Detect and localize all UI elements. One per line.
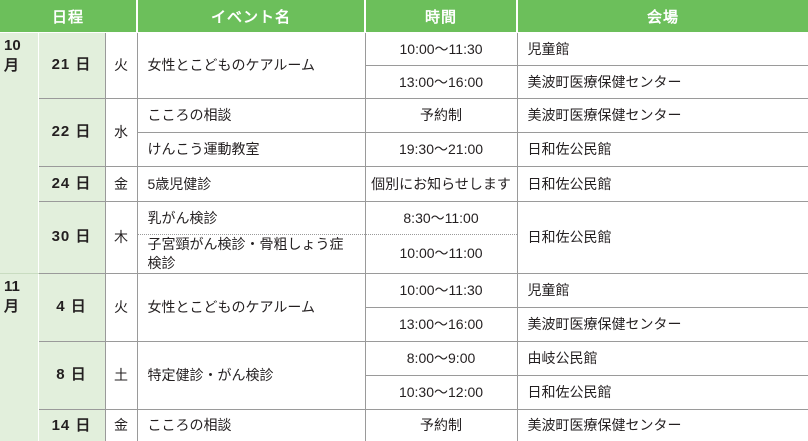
- day-number: 24 日: [38, 167, 105, 202]
- event-venue: 美波町医療保健センター: [517, 66, 808, 99]
- event-venue: 日和佐公民館: [517, 133, 808, 167]
- event-venue: 日和佐公民館: [517, 167, 808, 202]
- table-body: 10月 21 日 火 女性とこどものケアルーム 10:00〜11:30 児童館 …: [0, 33, 808, 441]
- day-of-week: 金: [105, 167, 137, 202]
- table-row: 10月 21 日 火 女性とこどものケアルーム 10:00〜11:30 児童館: [0, 33, 808, 66]
- month-label-october: 10月: [0, 33, 38, 274]
- event-name: けんこう運動教室: [137, 133, 365, 167]
- event-name: 女性とこどものケアルーム: [137, 33, 365, 99]
- column-header-venue: 会場: [517, 0, 808, 33]
- event-time: 10:00〜11:30: [365, 273, 517, 307]
- event-name: こころの相談: [137, 99, 365, 133]
- day-of-week: 水: [105, 99, 137, 167]
- day-number: 30 日: [38, 202, 105, 274]
- table-row: 8 日 土 特定健診・がん検診 8:00〜9:00 由岐公民館: [0, 341, 808, 375]
- event-schedule-table-container: 日程 イベント名 時間 会場 10月 21 日 火 女性とこどものケアルーム 1…: [0, 0, 808, 441]
- event-venue: 日和佐公民館: [517, 375, 808, 409]
- day-of-week: 土: [105, 341, 137, 409]
- column-header-date: 日程: [0, 0, 137, 33]
- event-venue: 日和佐公民館: [517, 202, 808, 274]
- month-label-november: 11月: [0, 273, 38, 441]
- event-time: 8:30〜11:00: [365, 202, 517, 235]
- event-time: 個別にお知らせします: [365, 167, 517, 202]
- table-header: 日程 イベント名 時間 会場: [0, 0, 808, 33]
- event-venue: 児童館: [517, 273, 808, 307]
- day-of-week: 火: [105, 273, 137, 341]
- event-time: 19:30〜21:00: [365, 133, 517, 167]
- event-name: 乳がん検診: [137, 202, 365, 235]
- day-number: 22 日: [38, 99, 105, 167]
- event-name: 特定健診・がん検診: [137, 341, 365, 409]
- day-of-week: 火: [105, 33, 137, 99]
- column-header-time: 時間: [365, 0, 517, 33]
- header-row: 日程 イベント名 時間 会場: [0, 0, 808, 33]
- event-schedule-table: 日程 イベント名 時間 会場 10月 21 日 火 女性とこどものケアルーム 1…: [0, 0, 808, 441]
- event-venue: 児童館: [517, 33, 808, 66]
- event-time: 10:00〜11:00: [365, 235, 517, 274]
- table-row: 30 日 木 乳がん検診 8:30〜11:00 日和佐公民館: [0, 202, 808, 235]
- day-number: 4 日: [38, 273, 105, 341]
- event-time: 予約制: [365, 409, 517, 441]
- event-time: 10:30〜12:00: [365, 375, 517, 409]
- column-header-event-name: イベント名: [137, 0, 365, 33]
- table-row: 14 日 金 こころの相談 予約制 美波町医療保健センター: [0, 409, 808, 441]
- event-time: 13:00〜16:00: [365, 66, 517, 99]
- event-time: 8:00〜9:00: [365, 341, 517, 375]
- event-venue: 由岐公民館: [517, 341, 808, 375]
- event-time: 13:00〜16:00: [365, 307, 517, 341]
- event-name: 女性とこどものケアルーム: [137, 273, 365, 341]
- day-number: 14 日: [38, 409, 105, 441]
- event-name: 子宮頸がん検診・骨粗しょう症検診: [137, 235, 365, 274]
- table-row: 22 日 水 こころの相談 予約制 美波町医療保健センター: [0, 99, 808, 133]
- day-number: 21 日: [38, 33, 105, 99]
- day-of-week: 金: [105, 409, 137, 441]
- event-venue: 美波町医療保健センター: [517, 99, 808, 133]
- event-venue: 美波町医療保健センター: [517, 307, 808, 341]
- event-time: 10:00〜11:30: [365, 33, 517, 66]
- event-time: 予約制: [365, 99, 517, 133]
- table-row: 11月 4 日 火 女性とこどものケアルーム 10:00〜11:30 児童館: [0, 273, 808, 307]
- day-number: 8 日: [38, 341, 105, 409]
- table-row: 24 日 金 5歳児健診 個別にお知らせします 日和佐公民館: [0, 167, 808, 202]
- day-of-week: 木: [105, 202, 137, 274]
- event-venue: 美波町医療保健センター: [517, 409, 808, 441]
- event-name: こころの相談: [137, 409, 365, 441]
- event-name: 5歳児健診: [137, 167, 365, 202]
